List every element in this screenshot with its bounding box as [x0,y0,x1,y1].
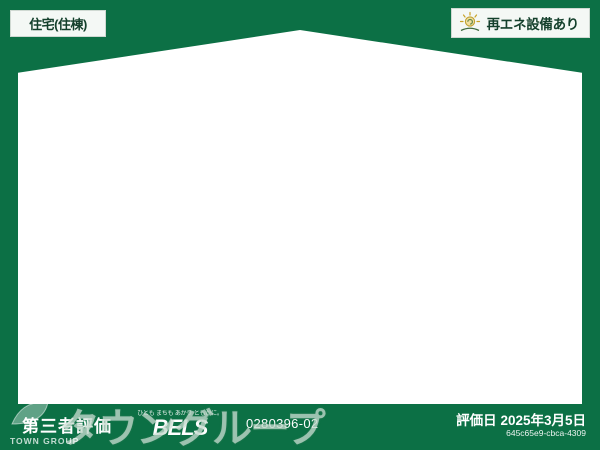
renewable-equipment-badge: 再エネ設備あり [451,8,590,38]
third-party-evaluation-label: 第三者評価 [22,412,112,437]
footer: 第三者評価 ひとも まちも あかり ともかに。 BELS 0280396-02 … [0,402,600,450]
bels-mark: BELS [120,417,240,439]
footer-divider [18,402,582,404]
certificate-number: 0280396-02 [246,416,318,431]
sun-solar-icon [458,11,482,35]
house-type-tag: 住宅(住棟) [10,10,106,37]
bels-tagline: ひとも まちも あかり ともかに。 [120,408,240,417]
bels-logo: ひとも まちも あかり ともかに。 BELS [120,408,240,444]
evaluation-date-value: 2025年3月5日 [500,413,586,428]
label-card [18,30,582,402]
evaluation-date: 評価日 2025年3月5日 [456,409,586,429]
house-type-tag-label: 住宅(住棟) [29,14,87,33]
energy-performance-label: 住宅(住棟) 再エネ設備あり 建築物省エネ法に基づく 省エネ性能ラベル [0,0,600,450]
evaluation-hash: 645c65e9-cbca-4309 [506,428,586,438]
renewable-equipment-badge-label: 再エネ設備あり [487,13,579,33]
evaluation-date-label: 評価日 [456,413,497,428]
